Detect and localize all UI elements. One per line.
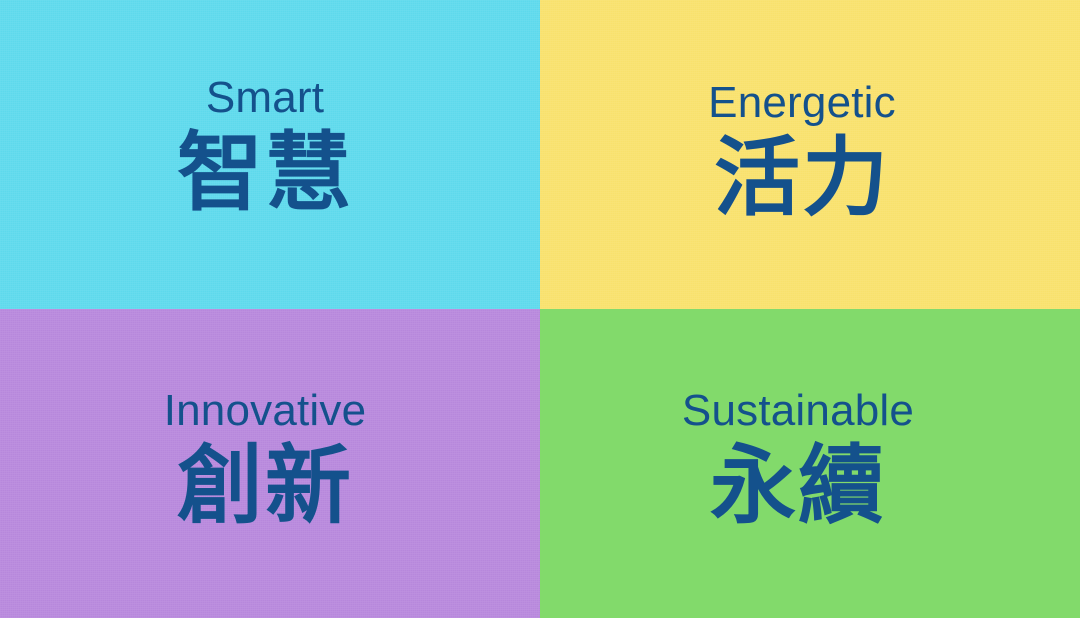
label-cjk-energetic: 活力: [714, 130, 890, 226]
label-en-sustainable: Sustainable: [682, 388, 914, 434]
label-cjk-smart: 智慧: [177, 125, 353, 221]
label-stack-innovative: Innovative 創新: [164, 388, 367, 535]
brand-values-grid: Smart 智慧 Energetic 活力 Innovative 創新 Sust…: [0, 0, 1080, 618]
label-cjk-sustainable: 永續: [710, 438, 886, 534]
label-cjk-innovative: 創新: [177, 438, 353, 534]
label-en-energetic: Energetic: [708, 80, 896, 126]
label-stack-energetic: Energetic 活力: [708, 80, 896, 227]
label-stack-sustainable: Sustainable 永續: [682, 388, 914, 535]
quadrant-smart[interactable]: Smart 智慧: [0, 0, 540, 309]
quadrant-sustainable[interactable]: Sustainable 永續: [540, 309, 1080, 618]
label-en-innovative: Innovative: [164, 388, 367, 434]
label-stack-smart: Smart 智慧: [177, 75, 353, 222]
quadrant-innovative[interactable]: Innovative 創新: [0, 309, 540, 618]
quadrant-energetic[interactable]: Energetic 活力: [540, 0, 1080, 309]
label-en-smart: Smart: [206, 75, 324, 121]
